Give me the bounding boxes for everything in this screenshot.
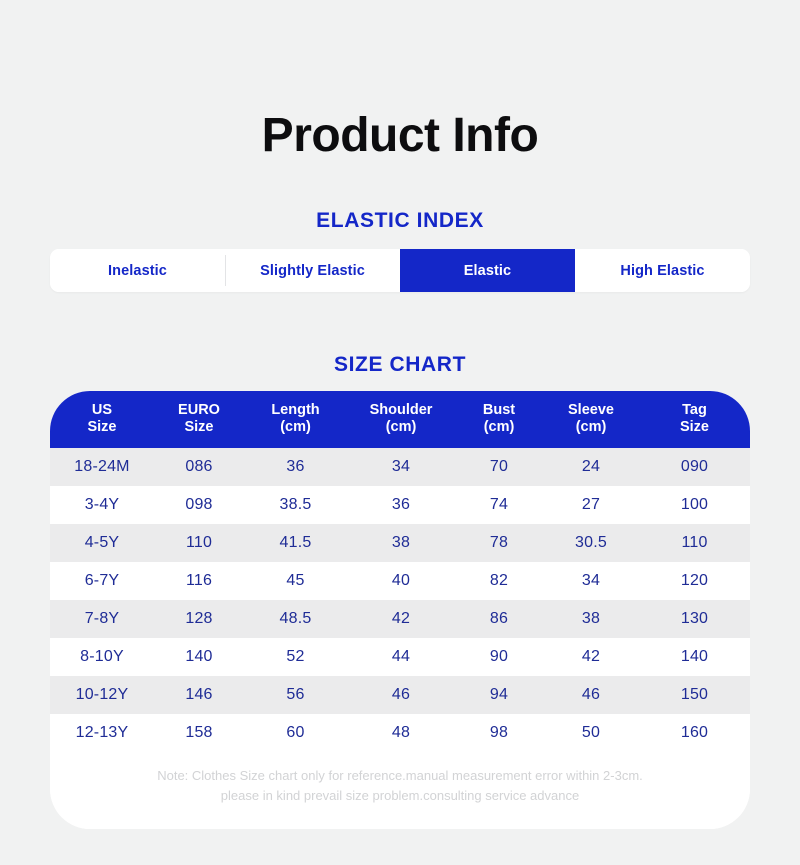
page-title: Product Info <box>0 110 800 163</box>
cell-sleeve: 34 <box>543 562 639 600</box>
cell-length: 60 <box>244 714 347 752</box>
elastic-option-inelastic[interactable]: Inelastic <box>50 249 225 292</box>
cell-tag-size: 130 <box>639 600 750 638</box>
elastic-option-elastic[interactable]: Elastic <box>400 249 575 292</box>
column-header-line2: Size <box>156 419 242 436</box>
product-info-page: Product Info ELASTIC INDEX Inelastic Sli… <box>0 0 800 865</box>
cell-us-size: 8-10Y <box>50 638 154 676</box>
cell-us-size: 7-8Y <box>50 600 154 638</box>
table-row: 4-5Y 110 41.5 38 78 30.5 110 <box>50 524 750 562</box>
cell-bust: 74 <box>455 486 543 524</box>
column-header-length: Length (cm) <box>244 391 347 448</box>
cell-bust: 86 <box>455 600 543 638</box>
size-chart-card: US Size EURO Size Length (cm) Shoulder (… <box>50 391 750 829</box>
column-header-shoulder: Shoulder (cm) <box>347 391 455 448</box>
elastic-index-selector: Inelastic Slightly Elastic Elastic High … <box>50 249 750 292</box>
cell-bust: 94 <box>455 676 543 714</box>
cell-euro-size: 146 <box>154 676 244 714</box>
cell-sleeve: 50 <box>543 714 639 752</box>
column-header-line2: Size <box>641 419 748 436</box>
column-header-line1: Bust <box>457 402 541 419</box>
cell-sleeve: 38 <box>543 600 639 638</box>
cell-shoulder: 40 <box>347 562 455 600</box>
column-header-euro-size: EURO Size <box>154 391 244 448</box>
table-row: 8-10Y 140 52 44 90 42 140 <box>50 638 750 676</box>
column-header-line1: Length <box>246 402 345 419</box>
cell-shoulder: 42 <box>347 600 455 638</box>
column-header-line2: Size <box>52 419 152 436</box>
column-header-sleeve: Sleeve (cm) <box>543 391 639 448</box>
table-row: 18-24M 086 36 34 70 24 090 <box>50 448 750 486</box>
cell-tag-size: 150 <box>639 676 750 714</box>
cell-euro-size: 128 <box>154 600 244 638</box>
column-header-line2: (cm) <box>246 419 345 436</box>
table-row: 10-12Y 146 56 46 94 46 150 <box>50 676 750 714</box>
cell-length: 56 <box>244 676 347 714</box>
column-header-bust: Bust (cm) <box>455 391 543 448</box>
column-header-line1: US <box>52 402 152 419</box>
cell-shoulder: 36 <box>347 486 455 524</box>
table-row: 12-13Y 158 60 48 98 50 160 <box>50 714 750 752</box>
cell-shoulder: 48 <box>347 714 455 752</box>
cell-us-size: 10-12Y <box>50 676 154 714</box>
cell-euro-size: 098 <box>154 486 244 524</box>
cell-euro-size: 086 <box>154 448 244 486</box>
cell-shoulder: 44 <box>347 638 455 676</box>
column-header-us-size: US Size <box>50 391 154 448</box>
cell-tag-size: 140 <box>639 638 750 676</box>
column-header-line2: (cm) <box>457 419 541 436</box>
cell-length: 38.5 <box>244 486 347 524</box>
table-header-row: US Size EURO Size Length (cm) Shoulder (… <box>50 391 750 448</box>
cell-shoulder: 38 <box>347 524 455 562</box>
cell-sleeve: 27 <box>543 486 639 524</box>
cell-bust: 70 <box>455 448 543 486</box>
size-chart-table: US Size EURO Size Length (cm) Shoulder (… <box>50 391 750 752</box>
size-chart-body: 18-24M 086 36 34 70 24 090 3-4Y 098 38.5… <box>50 448 750 752</box>
elastic-option-label: High Elastic <box>620 263 704 279</box>
elastic-option-label: Elastic <box>464 263 511 279</box>
cell-sleeve: 30.5 <box>543 524 639 562</box>
cell-sleeve: 46 <box>543 676 639 714</box>
cell-us-size: 4-5Y <box>50 524 154 562</box>
column-header-tag-size: Tag Size <box>639 391 750 448</box>
cell-euro-size: 158 <box>154 714 244 752</box>
table-row: 7-8Y 128 48.5 42 86 38 130 <box>50 600 750 638</box>
cell-us-size: 3-4Y <box>50 486 154 524</box>
cell-tag-size: 100 <box>639 486 750 524</box>
cell-euro-size: 110 <box>154 524 244 562</box>
cell-bust: 78 <box>455 524 543 562</box>
cell-bust: 98 <box>455 714 543 752</box>
column-header-line1: Sleeve <box>545 402 637 419</box>
cell-us-size: 12-13Y <box>50 714 154 752</box>
column-header-line2: (cm) <box>545 419 637 436</box>
cell-euro-size: 116 <box>154 562 244 600</box>
cell-sleeve: 24 <box>543 448 639 486</box>
cell-tag-size: 120 <box>639 562 750 600</box>
elastic-index-heading: ELASTIC INDEX <box>0 209 800 233</box>
cell-us-size: 18-24M <box>50 448 154 486</box>
size-chart-heading: SIZE CHART <box>0 353 800 377</box>
size-chart-note: Note: Clothes Size chart only for refere… <box>50 752 750 828</box>
cell-bust: 82 <box>455 562 543 600</box>
note-line-2: please in kind prevail size problem.cons… <box>90 786 710 806</box>
table-row: 6-7Y 116 45 40 82 34 120 <box>50 562 750 600</box>
elastic-option-label: Slightly Elastic <box>260 263 365 279</box>
cell-shoulder: 46 <box>347 676 455 714</box>
column-header-line2: (cm) <box>349 419 453 436</box>
elastic-option-high-elastic[interactable]: High Elastic <box>575 249 750 292</box>
cell-shoulder: 34 <box>347 448 455 486</box>
cell-length: 45 <box>244 562 347 600</box>
elastic-option-label: Inelastic <box>108 263 167 279</box>
note-line-1: Note: Clothes Size chart only for refere… <box>90 766 710 786</box>
cell-tag-size: 160 <box>639 714 750 752</box>
cell-length: 41.5 <box>244 524 347 562</box>
cell-tag-size: 090 <box>639 448 750 486</box>
cell-length: 52 <box>244 638 347 676</box>
column-header-line1: Tag <box>641 402 748 419</box>
cell-bust: 90 <box>455 638 543 676</box>
cell-euro-size: 140 <box>154 638 244 676</box>
cell-length: 36 <box>244 448 347 486</box>
elastic-option-slightly-elastic[interactable]: Slightly Elastic <box>225 249 400 292</box>
column-header-line1: Shoulder <box>349 402 453 419</box>
cell-tag-size: 110 <box>639 524 750 562</box>
table-row: 3-4Y 098 38.5 36 74 27 100 <box>50 486 750 524</box>
cell-length: 48.5 <box>244 600 347 638</box>
column-header-line1: EURO <box>156 402 242 419</box>
cell-us-size: 6-7Y <box>50 562 154 600</box>
cell-sleeve: 42 <box>543 638 639 676</box>
